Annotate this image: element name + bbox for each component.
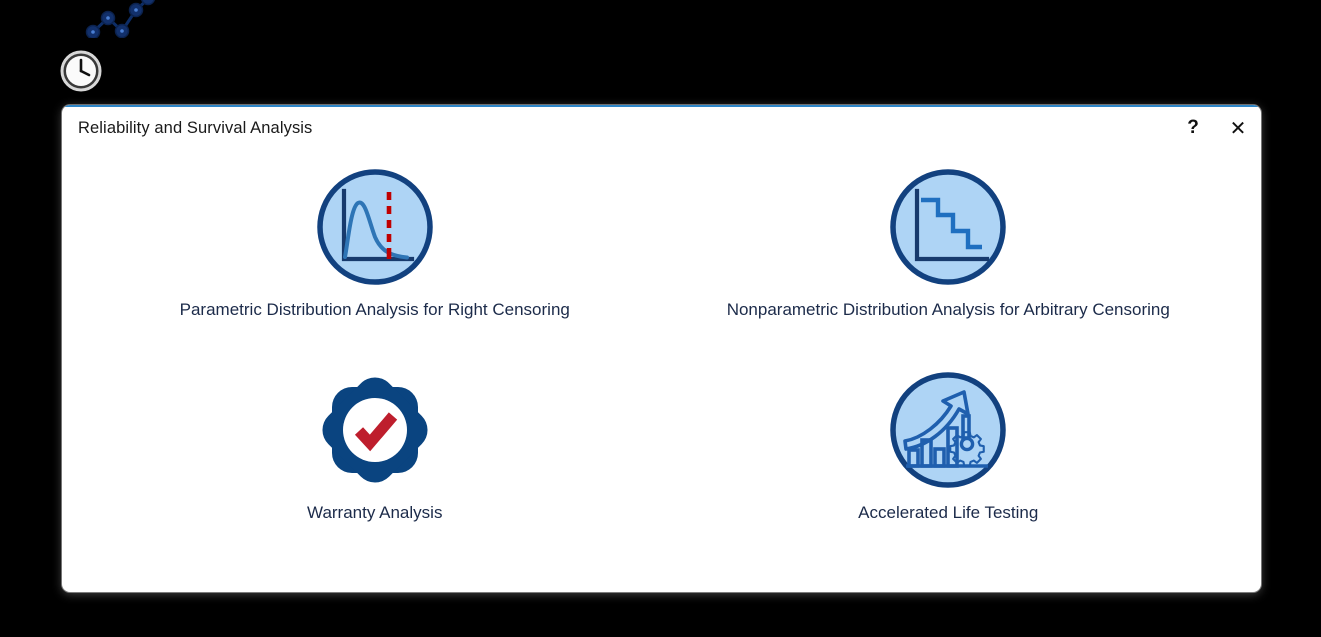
scatter-plot-icon[interactable] bbox=[84, 0, 156, 38]
dialog-body: Parametric Distribution Analysis for Rig… bbox=[62, 151, 1261, 592]
dialog-titlebar: Reliability and Survival Analysis ? ✕ bbox=[62, 105, 1261, 151]
warranty-badge-checkmark-icon[interactable] bbox=[315, 370, 435, 490]
option-parametric-distribution-analysis-for-right-censoring[interactable]: Parametric Distribution Analysis for Rig… bbox=[88, 161, 662, 364]
dialog-title: Reliability and Survival Analysis bbox=[78, 119, 312, 138]
option-nonparametric-distribution-analysis-for-arbitrary-censoring[interactable]: Nonparametric Distribution Analysis for … bbox=[662, 161, 1236, 364]
option-accelerated-life-testing[interactable]: Accelerated Life Testing bbox=[662, 364, 1236, 567]
close-icon[interactable]: ✕ bbox=[1215, 105, 1261, 151]
option-label: Accelerated Life Testing bbox=[858, 503, 1038, 523]
titlebar-controls: ? ✕ bbox=[1169, 105, 1261, 151]
distribution-curve-right-censoring-icon[interactable] bbox=[315, 167, 435, 287]
help-icon[interactable]: ? bbox=[1169, 105, 1215, 151]
analysis-options-grid: Parametric Distribution Analysis for Rig… bbox=[88, 161, 1235, 567]
step-function-survival-curve-icon[interactable] bbox=[888, 167, 1008, 287]
growth-arrow-gear-icon[interactable] bbox=[888, 370, 1008, 490]
clock-icon[interactable] bbox=[58, 48, 104, 94]
option-label: Nonparametric Distribution Analysis for … bbox=[727, 300, 1170, 320]
option-warranty-analysis[interactable]: Warranty Analysis bbox=[88, 364, 662, 567]
option-label: Parametric Distribution Analysis for Rig… bbox=[180, 300, 570, 320]
reliability-and-survival-analysis-dialog: Reliability and Survival Analysis ? ✕ bbox=[62, 105, 1261, 592]
option-label: Warranty Analysis bbox=[307, 503, 442, 523]
